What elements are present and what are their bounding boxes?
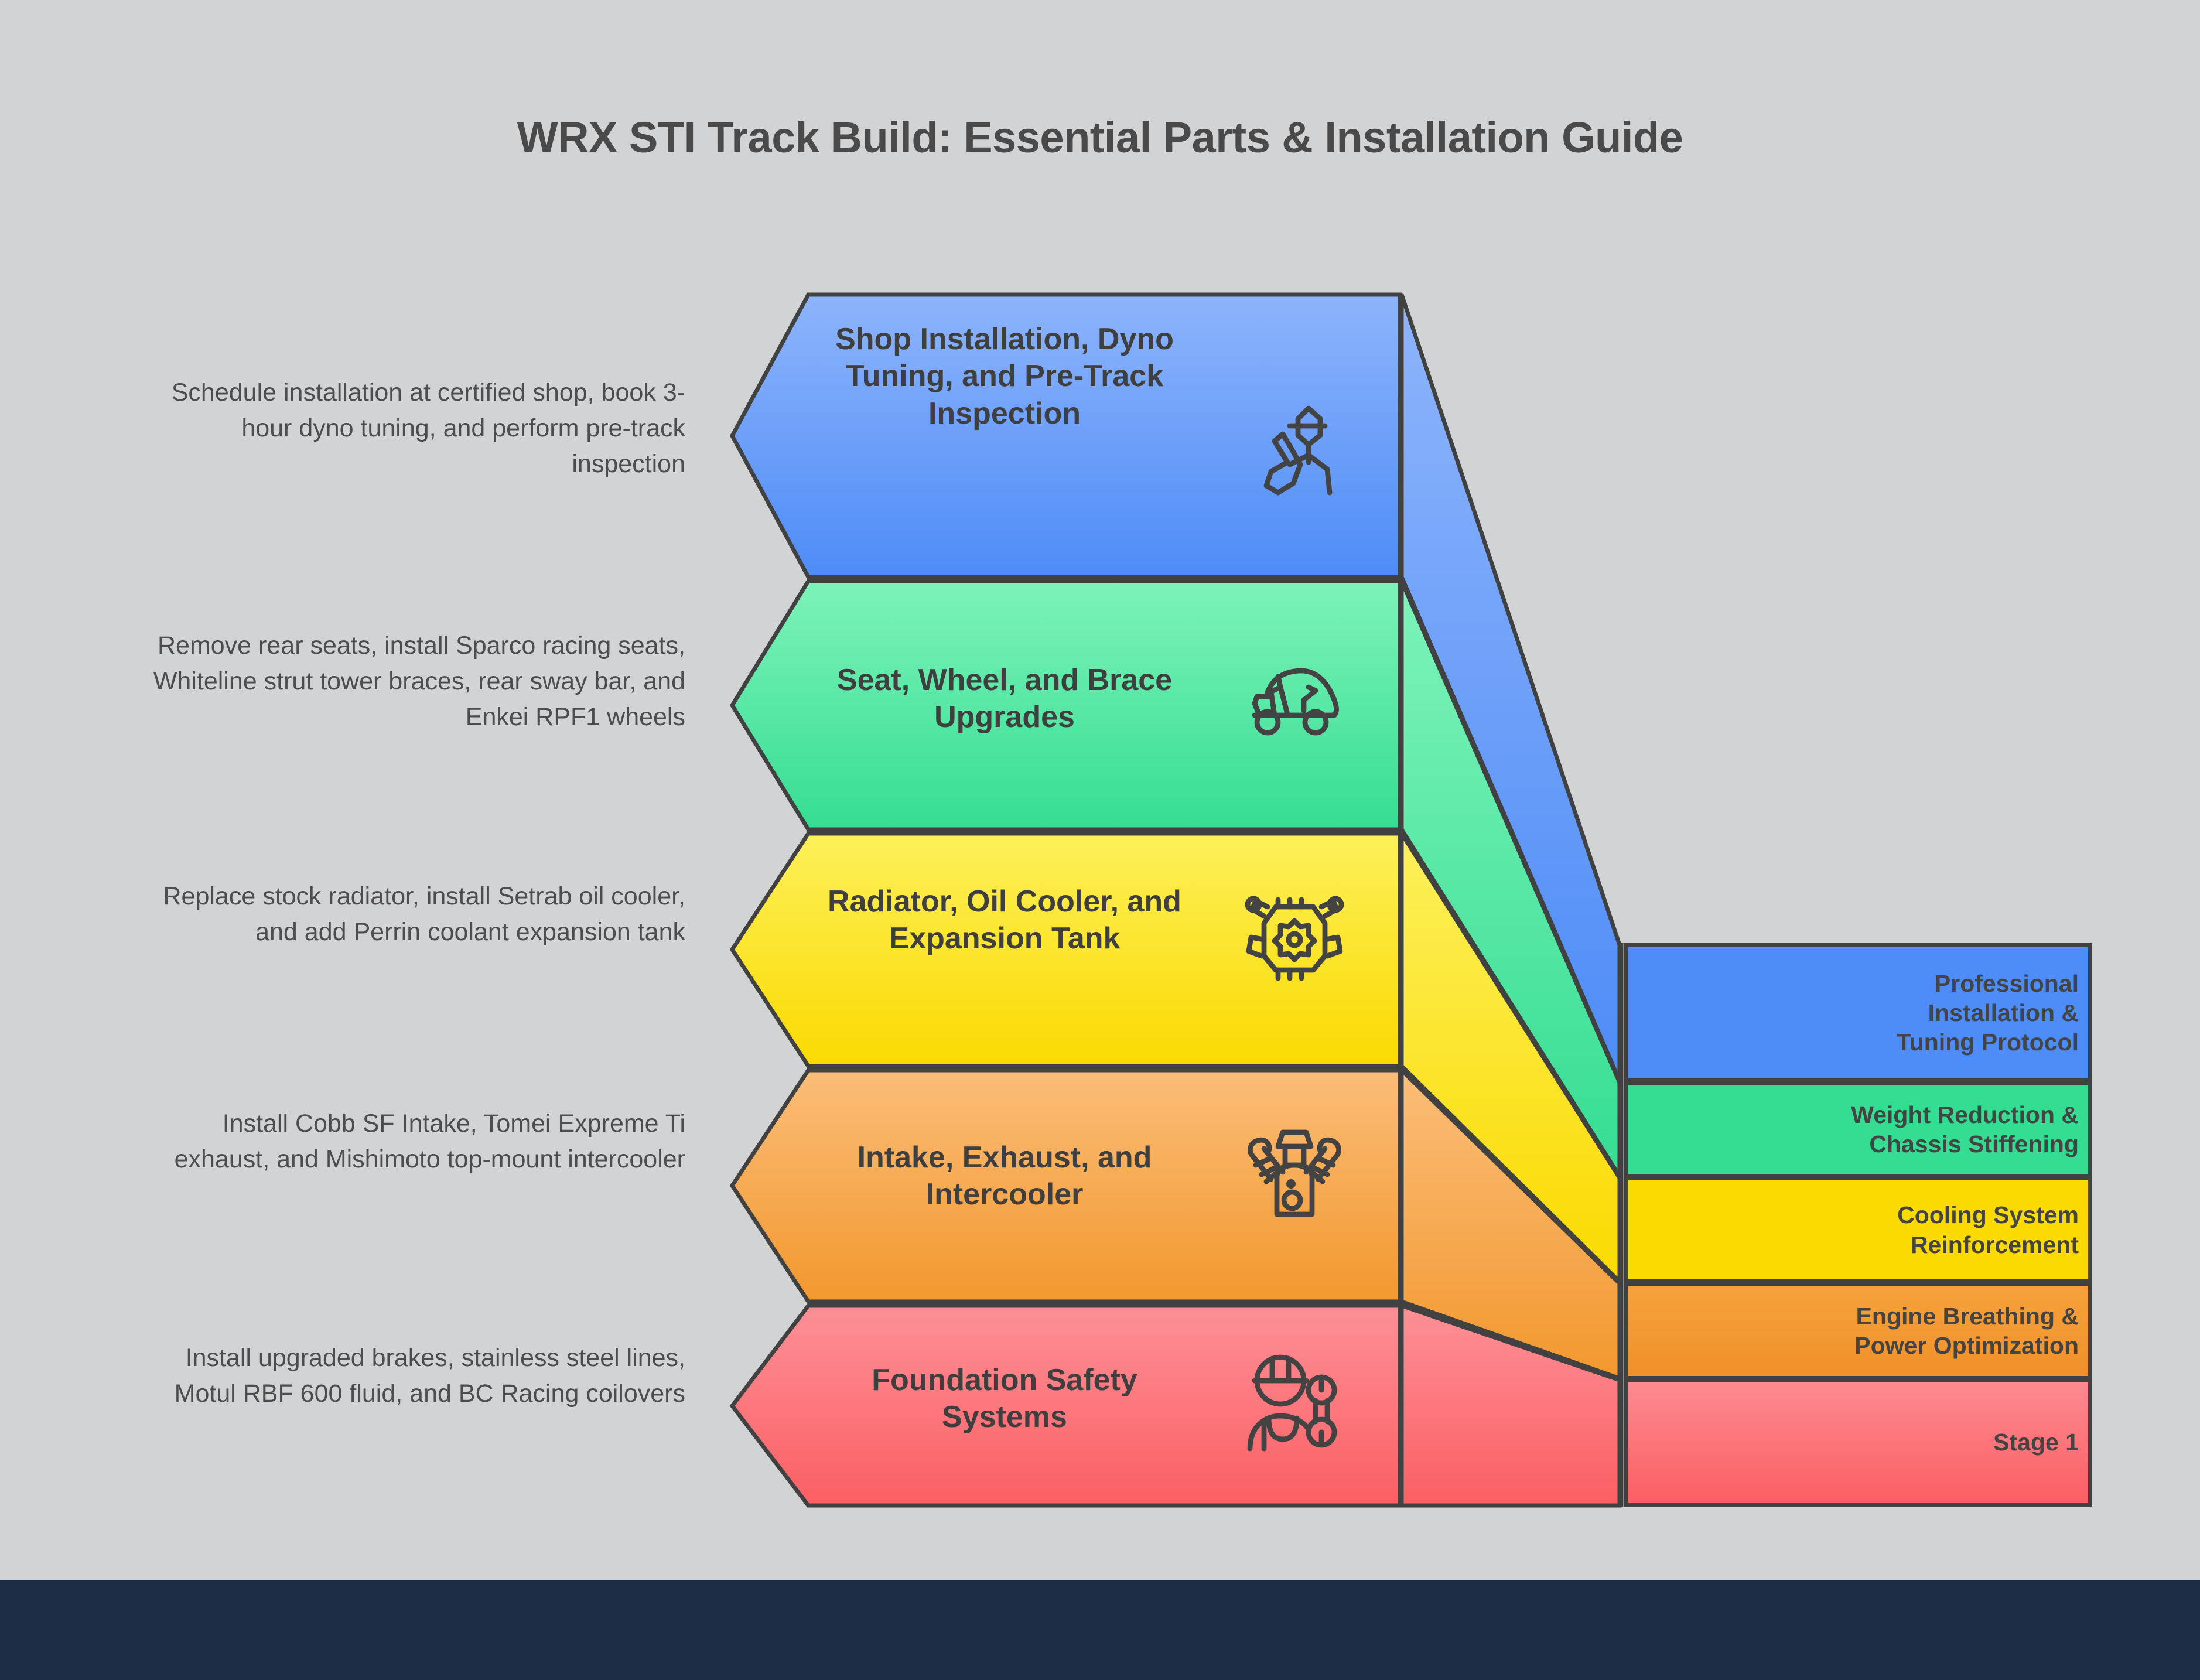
infographic-canvas: WRX STI Track Build: Essential Parts & I… [0,0,2200,1680]
legend-label-2: Weight Reduction & Chassis Stiffening [1851,1100,2079,1159]
mechanic-inspecting-icon [1230,390,1359,507]
legend-item-3[interactable]: Cooling System Reinforcement [1624,1176,2092,1283]
legend-label-3: Cooling System Reinforcement [1897,1200,2079,1259]
race-car-seat-icon [1230,641,1359,759]
v-engine-intake-icon [1230,1116,1359,1233]
stage-description-4: Install Cobb SF Intake, Tomei Expreme Ti… [135,1106,685,1177]
funnel-band-label-1: Shop Installation, Dyno Tuning, and Pre-… [817,321,1192,432]
legend-label-4: Engine Breathing & Power Optimization [1854,1302,2079,1360]
engine-block-gear-icon [1230,879,1359,996]
funnel-band-label-2: Seat, Wheel, and Brace Upgrades [817,662,1192,736]
funnel-band-label-3: Radiator, Oil Cooler, and Expansion Tank [817,883,1192,958]
mechanic-wrench-icon [1230,1350,1359,1467]
legend-item-4[interactable]: Engine Breathing & Power Optimization [1624,1282,2092,1380]
legend-label-5: Stage 1 [1993,1428,2079,1457]
legend-item-2[interactable]: Weight Reduction & Chassis Stiffening [1624,1081,2092,1178]
stage-description-3: Replace stock radiator, install Setrab o… [135,879,685,950]
stage-description-1: Schedule installation at certified shop,… [135,375,685,482]
stage-description-5: Install upgraded brakes, stainless steel… [135,1340,685,1412]
legend-label-1: Professional Installation & Tuning Proto… [1897,969,2079,1057]
funnel-band-label-4: Intake, Exhaust, and Intercooler [817,1139,1192,1214]
funnel-band-label-5: Foundation Safety Systems [817,1362,1192,1436]
stage-description-2: Remove rear seats, install Sparco racing… [135,628,685,735]
legend-item-5[interactable]: Stage 1 [1624,1378,2092,1507]
legend-item-1[interactable]: Professional Installation & Tuning Proto… [1624,943,2092,1083]
footer-bar [0,1580,2200,1680]
